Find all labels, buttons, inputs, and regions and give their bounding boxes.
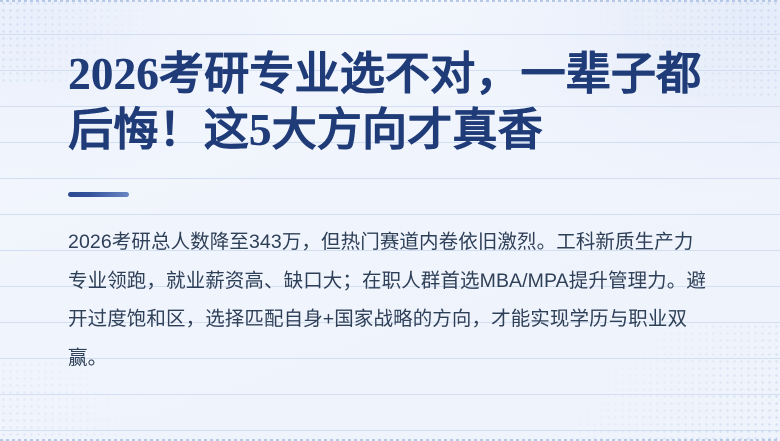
poster-card: 2026考研专业选不对，一辈子都后悔！这5大方向才真香 2026考研总人数降至3… <box>0 0 780 441</box>
poster-content: 2026考研专业选不对，一辈子都后悔！这5大方向才真香 2026考研总人数降至3… <box>0 0 780 377</box>
headline-title: 2026考研专业选不对，一辈子都后悔！这5大方向才真香 <box>68 0 712 158</box>
body-paragraph: 2026考研总人数降至343万，但热门赛道内卷依旧激烈。工科新质生产力专业领跑，… <box>68 197 712 377</box>
